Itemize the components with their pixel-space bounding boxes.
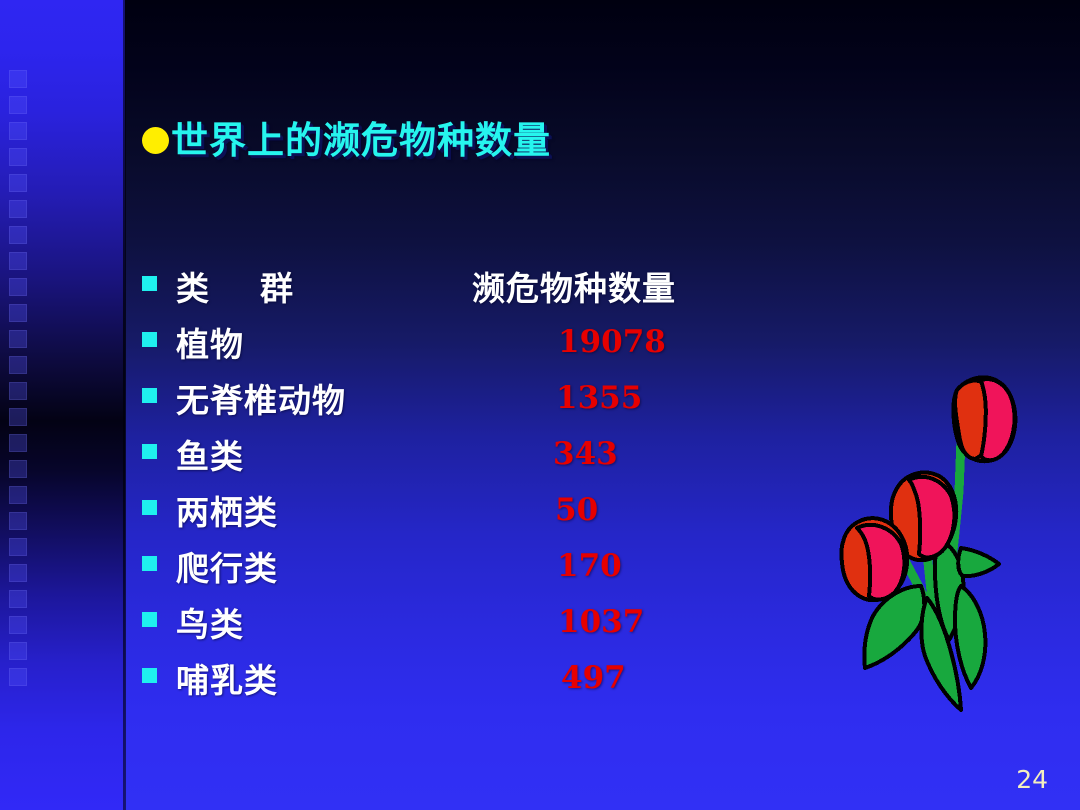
sidebar-square-15 [9,460,27,478]
table-row: 哺乳类497 [142,650,842,706]
sidebar-square-4 [9,174,27,192]
circle-bullet-icon [142,127,169,154]
table-row: 无脊椎动物1355 [142,370,842,426]
species-count-value: 1037 [558,594,644,650]
species-count-value: 19078 [558,314,666,370]
sidebar-square-1 [9,96,27,114]
species-group-label: 哺乳类 [176,650,278,706]
species-count-value: 170 [557,538,622,594]
sidebar-square-6 [9,226,27,244]
sidebar-square-18 [9,538,27,556]
square-bullet-icon [142,444,157,459]
sidebar-square-23 [9,668,27,686]
sidebar-square-22 [9,642,27,660]
sidebar-square-17 [9,512,27,530]
sidebar-square-10 [9,330,27,348]
square-bullet-icon [142,500,157,515]
species-count-value: 497 [561,650,626,706]
square-bullet-icon [142,388,157,403]
endangered-species-table: 类 群濒危物种数量植物19078无脊椎动物1355鱼类343两栖类50爬行类17… [142,258,842,706]
sidebar-square-21 [9,616,27,634]
table-row: 鱼类343 [142,426,842,482]
sidebar-square-7 [9,252,27,270]
species-count-header: 濒危物种数量 [472,258,676,314]
species-count-value: 50 [555,482,598,538]
sidebar-square-5 [9,200,27,218]
sidebar-square-3 [9,148,27,166]
sidebar-square-11 [9,356,27,374]
table-row: 爬行类170 [142,538,842,594]
species-group-label: 鸟类 [176,594,244,650]
sidebar-square-8 [9,278,27,296]
sidebar-square-19 [9,564,27,582]
sidebar-square-12 [9,382,27,400]
sidebar-square-9 [9,304,27,322]
species-group-label: 两栖类 [176,482,278,538]
slide-title: 世界上的濒危物种数量 [142,122,551,159]
sidebar-square-14 [9,434,27,452]
sidebar-square-13 [9,408,27,426]
sidebar-square-2 [9,122,27,140]
species-group-label: 爬行类 [176,538,278,594]
slide-canvas: 世界上的濒危物种数量 类 群濒危物种数量植物19078无脊椎动物1355鱼类34… [0,0,1080,810]
tulip-bouquet-icon [833,372,1028,722]
page-number: 24 [1016,765,1048,794]
square-bullet-icon [142,556,157,571]
slide-title-text: 世界上的濒危物种数量 [171,122,551,159]
square-bullet-icon [142,332,157,347]
square-bullet-icon [142,276,157,291]
species-group-label: 鱼类 [176,426,244,482]
square-bullet-icon [142,612,157,627]
species-group-label: 类 群 [176,258,294,314]
species-count-value: 1355 [556,370,642,426]
table-row: 两栖类50 [142,482,842,538]
square-bullet-icon [142,668,157,683]
sidebar-square-20 [9,590,27,608]
species-group-label: 植物 [176,314,244,370]
table-row: 鸟类1037 [142,594,842,650]
sidebar-divider [123,0,126,810]
sidebar-square-16 [9,486,27,504]
species-group-label: 无脊椎动物 [176,370,346,426]
sidebar-square-0 [9,70,27,88]
table-row: 植物19078 [142,314,842,370]
table-row: 类 群濒危物种数量 [142,258,842,314]
species-count-value: 343 [553,426,618,482]
